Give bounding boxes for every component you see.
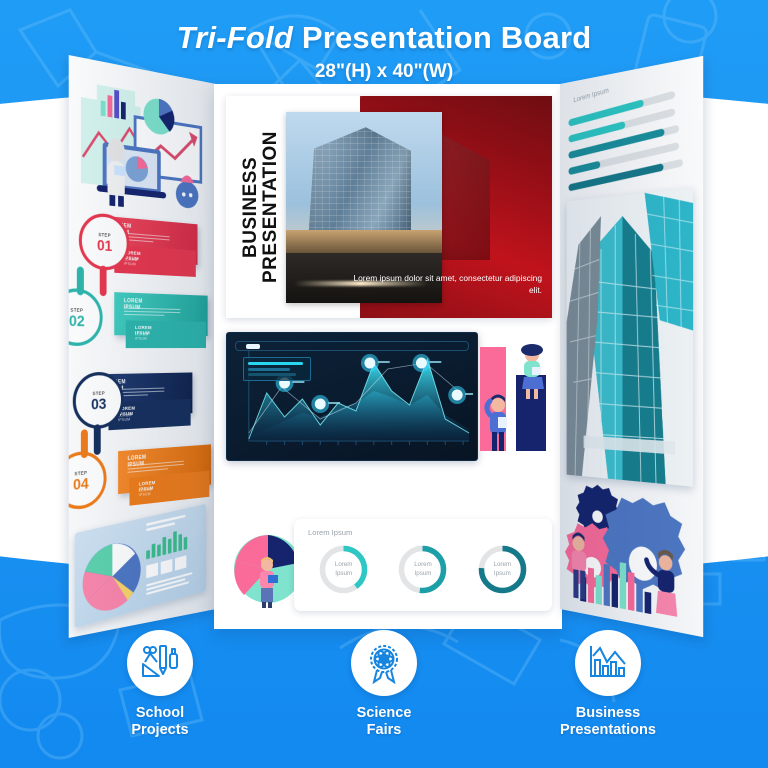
title-bold-part: Presentation Board: [302, 20, 592, 55]
donut-card-label: Lorem Ipsum: [308, 528, 352, 537]
dashboard-chart: [226, 332, 478, 461]
feature-caption: Business Presentations: [533, 705, 683, 739]
tri-fold-board: LOREM IPSUM LOREM IPSUM LOREM IPSUM STEP…: [56, 84, 716, 629]
page-title: Tri-Fold Presentation Board: [0, 0, 768, 55]
step-subtext: LOREM IPSUM: [139, 487, 152, 497]
donut-label-line2: Ipsum: [415, 570, 432, 578]
step-number: 01: [97, 236, 112, 252]
science-award-icon: [363, 642, 405, 684]
header: Tri-Fold Presentation Board 28"(H) x 40"…: [0, 0, 768, 92]
donut-chart: Lorem Ipsum: [476, 543, 529, 596]
step-pin: [100, 266, 107, 297]
feature-badges: School Projects: [0, 630, 768, 760]
board-panel-left: LOREM IPSUM LOREM IPSUM LOREM IPSUM STEP…: [69, 55, 216, 638]
donut-label-line1: Lorem: [494, 561, 512, 569]
title-italic-part: Tri-Fold: [177, 20, 293, 55]
donut-chart: Lorem Ipsum: [317, 543, 370, 596]
dashboard-area-chart: [227, 333, 477, 460]
donut-label-line2: Ipsum: [335, 570, 352, 578]
bar-chart-icon: [587, 642, 629, 684]
donut-label: Lorem Ipsum: [317, 543, 370, 596]
board-panel-center: BUSINESS PRESENTATION Lorem ipsum dolor …: [214, 84, 562, 629]
hero-caption: Lorem ipsum dolor sit amet, consectetur …: [340, 272, 542, 296]
skyscraper-photo: [567, 188, 693, 487]
step-pin: [77, 266, 84, 295]
hero-vertical-title-text: BUSINESS PRESENTATION: [241, 96, 281, 318]
donut-label: Lorem Ipsum: [476, 543, 529, 596]
donut-label: Lorem Ipsum: [396, 543, 449, 596]
feature-item: Science Fairs: [309, 630, 459, 760]
step-pin: [81, 429, 88, 458]
feature-item: Business Presentations: [533, 630, 683, 760]
donut-card: Lorem Ipsum Lorem Ipsum: [294, 519, 552, 611]
product-image: MEM Tri-Fold Presentation Board 28"(H) x…: [0, 0, 768, 768]
donut-list: Lorem Ipsum Lorem Ipsum: [304, 543, 542, 596]
step-subtext: LOREM IPSUM: [118, 413, 132, 422]
school-supplies-icon: [139, 642, 181, 684]
donut-label-line1: Lorem: [335, 561, 353, 569]
donut-chart: Lorem Ipsum: [396, 543, 449, 596]
step-subtext: LOREM IPSUM: [135, 332, 148, 341]
hero-vertical-title: BUSINESS PRESENTATION: [235, 96, 287, 318]
steps-infographic: LOREM IPSUM LOREM IPSUM LOREM IPSUM STEP…: [73, 213, 210, 534]
feature-caption: Science Fairs: [309, 705, 459, 739]
feature-item: School Projects: [85, 630, 235, 760]
hero-block: BUSINESS PRESENTATION Lorem ipsum dolor …: [226, 96, 552, 318]
progress-bar-fill: [568, 161, 600, 175]
gears-illustration: [565, 475, 695, 622]
feature-caption-line2: Fairs: [309, 722, 459, 739]
step-number: 02: [69, 312, 85, 328]
step-number: 03: [91, 395, 106, 411]
step-badge: STEP 02: [69, 287, 103, 345]
feature-caption: School Projects: [85, 705, 235, 739]
feature-icon-circle: [351, 630, 417, 696]
step-lines: [124, 307, 180, 318]
feature-icon-circle: [575, 630, 641, 696]
feature-caption-line2: Presentations: [533, 722, 683, 739]
step-subtext: LOREM IPSUM: [124, 257, 137, 266]
step-pin: [94, 424, 101, 455]
feature-caption-line1: School: [85, 705, 235, 722]
bar-people-illustration: [476, 331, 550, 455]
page-subtitle: 28"(H) x 40"(W): [0, 61, 768, 83]
donut-label-line2: Ipsum: [494, 570, 511, 578]
step-badge: STEP 04: [69, 450, 107, 512]
dashboard-legend: [243, 357, 311, 381]
lower-row: Lorem Ipsum Lorem Ipsum: [226, 519, 552, 615]
board-panel-right: Lorem Ipsum: [560, 56, 703, 637]
feature-caption-line1: Business: [533, 705, 683, 722]
step-number: 04: [73, 475, 89, 492]
feature-caption-line1: Science: [309, 705, 459, 722]
feature-caption-line2: Projects: [85, 722, 235, 739]
donut-label-line1: Lorem: [414, 561, 432, 569]
feature-icon-circle: [127, 630, 193, 696]
